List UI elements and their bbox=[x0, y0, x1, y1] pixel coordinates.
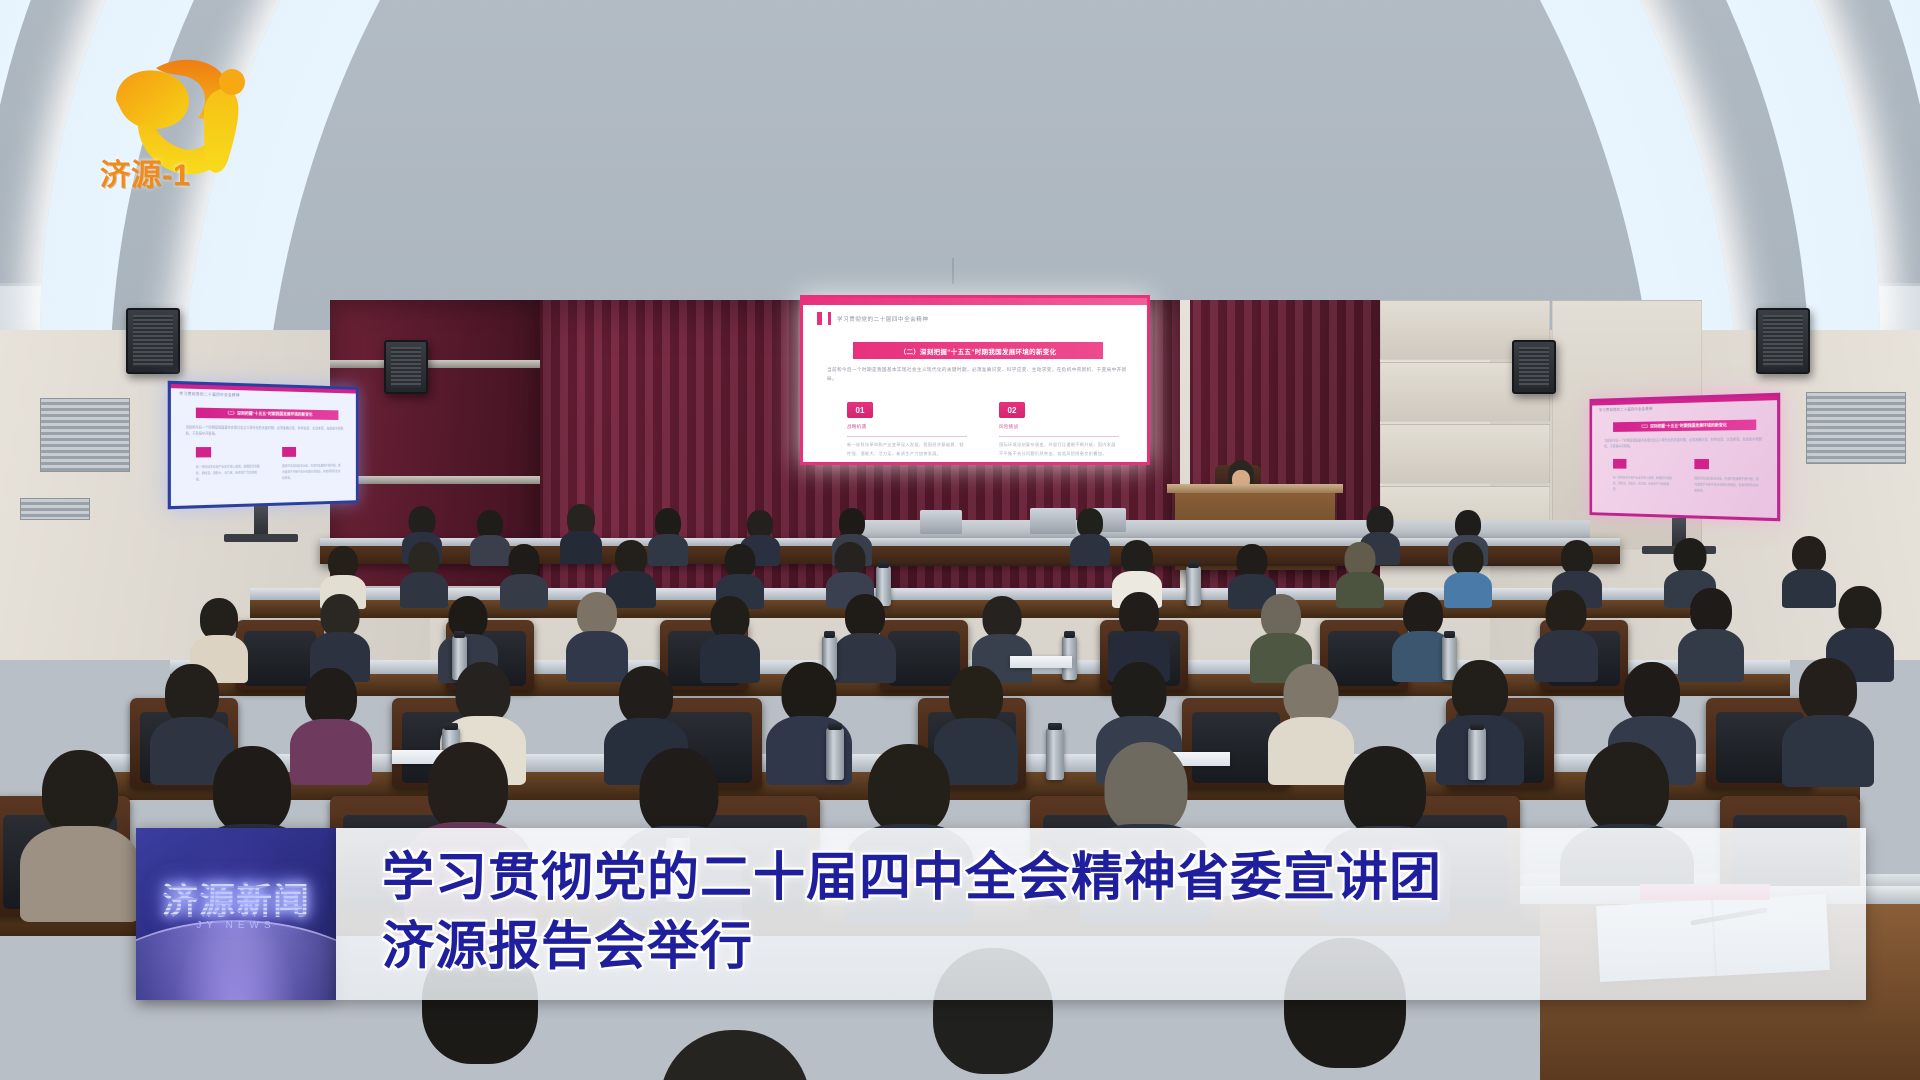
head bbox=[1546, 590, 1587, 635]
head bbox=[1453, 542, 1484, 576]
projector-screen: 学习贯彻党的二十届四中全会精神 （二）深刻把握“十五五”时期我国发展环境的新变化… bbox=[800, 295, 1150, 465]
air-vent-left bbox=[40, 398, 130, 472]
head bbox=[42, 750, 118, 836]
documents bbox=[1010, 656, 1072, 668]
broadcast-frame: 学习贯彻党的二十届四中全会精神 （二）深刻把握“十五五”时期我国发展环境的新变化… bbox=[0, 0, 1920, 1080]
torso bbox=[1070, 534, 1110, 566]
water-bottle bbox=[1046, 728, 1064, 780]
torso bbox=[20, 826, 140, 922]
audience-member bbox=[1534, 590, 1598, 682]
head bbox=[1284, 664, 1339, 724]
mini-slide-header: 学习贯彻党的二十届四中全会精神 bbox=[1599, 407, 1653, 413]
headline-line-1: 学习贯彻党的二十届四中全会精神省委宣讲团 bbox=[382, 844, 1866, 913]
mini-slide-body: 当前和今后一个时期是我国基本实现社会主义现代化的关键时期，必须准确识变、科学应变… bbox=[1604, 436, 1764, 450]
program-badge: 济源新闻 JY NEWS bbox=[136, 828, 336, 1000]
headline-panel: 学习贯彻党的二十届四中全会精神省委宣讲团 济源报告会举行 bbox=[336, 828, 1866, 1000]
head bbox=[1799, 658, 1857, 722]
mini-slide-title: （二）深刻把握“十五五”时期我国发展环境的新变化 bbox=[196, 408, 339, 420]
channel-name-label: 济源-1 bbox=[100, 150, 191, 194]
head bbox=[1585, 742, 1669, 834]
head bbox=[1792, 536, 1826, 573]
slide-column-rule bbox=[847, 436, 967, 437]
audience-member bbox=[560, 504, 602, 562]
head bbox=[782, 662, 837, 723]
program-title: 济源新闻 bbox=[162, 872, 310, 924]
slide-title: （二）深刻把握“十五五”时期我国发展环境的新变化 bbox=[853, 342, 1103, 359]
torso bbox=[500, 574, 548, 609]
torso bbox=[560, 531, 602, 564]
slide-body-text: 当前和今后一个时期是我国基本实现社会主义现代化的关键时期，必须准确识变、科学应变… bbox=[827, 366, 1127, 383]
mini-slide-body: 当前和今后一个时期是我国基本实现社会主义现代化的关键时期，必须准确识变、科学应变… bbox=[186, 424, 346, 438]
audience-member bbox=[500, 544, 548, 606]
head bbox=[165, 664, 219, 724]
torso bbox=[1782, 715, 1874, 787]
audience-member bbox=[1070, 508, 1110, 564]
mini-section-number-01 bbox=[1613, 459, 1626, 469]
head bbox=[428, 742, 508, 832]
water-bottle bbox=[1468, 728, 1486, 780]
head bbox=[1119, 592, 1159, 636]
air-vent-right bbox=[1806, 392, 1906, 464]
head bbox=[1452, 660, 1508, 722]
globe-graphic-icon bbox=[136, 920, 336, 1000]
head bbox=[509, 544, 540, 578]
head bbox=[1561, 540, 1593, 575]
slide-section-number-02: 02 bbox=[999, 402, 1025, 418]
audience-member bbox=[1336, 542, 1384, 606]
wall-speaker-left-2 bbox=[384, 340, 428, 394]
head bbox=[1690, 588, 1732, 634]
wall-speaker-right-2 bbox=[1512, 340, 1556, 394]
ceiling-hanger bbox=[952, 258, 954, 284]
head bbox=[1403, 592, 1443, 636]
head bbox=[321, 594, 360, 637]
head bbox=[619, 666, 673, 725]
slide-section-number-01: 01 bbox=[847, 402, 873, 418]
water-bottle bbox=[826, 728, 844, 780]
head bbox=[1261, 594, 1301, 638]
head bbox=[868, 744, 950, 834]
head bbox=[409, 542, 440, 576]
audience-member bbox=[20, 750, 140, 918]
slide-section-caption-01: 战略机遇 bbox=[847, 424, 867, 430]
program-subtitle: JY NEWS bbox=[196, 920, 275, 931]
head bbox=[845, 594, 885, 638]
lower-third: 济源新闻 JY NEWS 学习贯彻党的二十届四中全会精神省委宣讲团 济源报告会举… bbox=[136, 828, 1866, 1000]
head bbox=[660, 1030, 810, 1080]
mini-section-number-01 bbox=[196, 447, 211, 457]
slide-section-text-01: 新一轮科技革命和产业变革深入发展，我国经济基础稳、韧性强、潜能大、活力足，新质生… bbox=[847, 440, 965, 458]
torso bbox=[1336, 572, 1384, 608]
head bbox=[1345, 542, 1376, 576]
torso bbox=[1534, 630, 1598, 682]
wall-speaker-left bbox=[126, 308, 180, 374]
head bbox=[1674, 538, 1707, 574]
slide-header: 学习贯彻党的二十届四中全会精神 bbox=[817, 312, 1137, 325]
head bbox=[615, 540, 647, 575]
wall-speaker-right bbox=[1756, 308, 1810, 374]
head bbox=[200, 598, 238, 640]
head bbox=[1344, 746, 1426, 836]
head bbox=[1839, 586, 1882, 633]
headline-line-2: 济源报告会举行 bbox=[382, 913, 1866, 982]
slide-tick-icon bbox=[828, 312, 831, 325]
head bbox=[1112, 662, 1167, 723]
head bbox=[456, 662, 511, 723]
head bbox=[949, 666, 1003, 725]
water-bottle bbox=[1186, 566, 1201, 606]
head bbox=[1121, 540, 1153, 575]
head bbox=[213, 746, 291, 834]
head bbox=[1624, 662, 1680, 723]
slide-accent-bar bbox=[803, 298, 1147, 305]
head bbox=[305, 668, 357, 726]
slide-section-text-02: 国际环境深刻复杂演变，外部打压遏制不断升级，国内发展不平衡不充分问题仍然突出，各… bbox=[999, 440, 1117, 458]
audience-member-foreground bbox=[620, 1030, 850, 1080]
mini-section-number-02 bbox=[1694, 459, 1709, 469]
head bbox=[1237, 544, 1268, 578]
head bbox=[835, 542, 866, 576]
mini-slide-title: （二）深刻把握“十五五”时期我国发展环境的新变化 bbox=[1613, 420, 1756, 432]
slide-section-caption-02: 风险挑战 bbox=[999, 424, 1019, 430]
torso bbox=[700, 634, 760, 683]
mini-section-number-02 bbox=[282, 447, 296, 457]
head bbox=[1105, 742, 1188, 834]
slide-header-text: 学习贯彻党的二十届四中全会精神 bbox=[837, 315, 929, 323]
head bbox=[640, 748, 719, 836]
slide-column-rule bbox=[999, 436, 1119, 437]
head bbox=[711, 596, 750, 639]
head bbox=[577, 592, 617, 636]
audience-member bbox=[1782, 658, 1874, 782]
mini-slide-header: 学习贯彻党的二十届四中全会精神 bbox=[179, 392, 240, 399]
audience-member bbox=[700, 596, 760, 682]
mini-slide-accent-bar bbox=[1592, 396, 1777, 406]
head bbox=[983, 596, 1022, 639]
slide-tick-icon bbox=[817, 312, 822, 325]
head bbox=[725, 544, 756, 578]
